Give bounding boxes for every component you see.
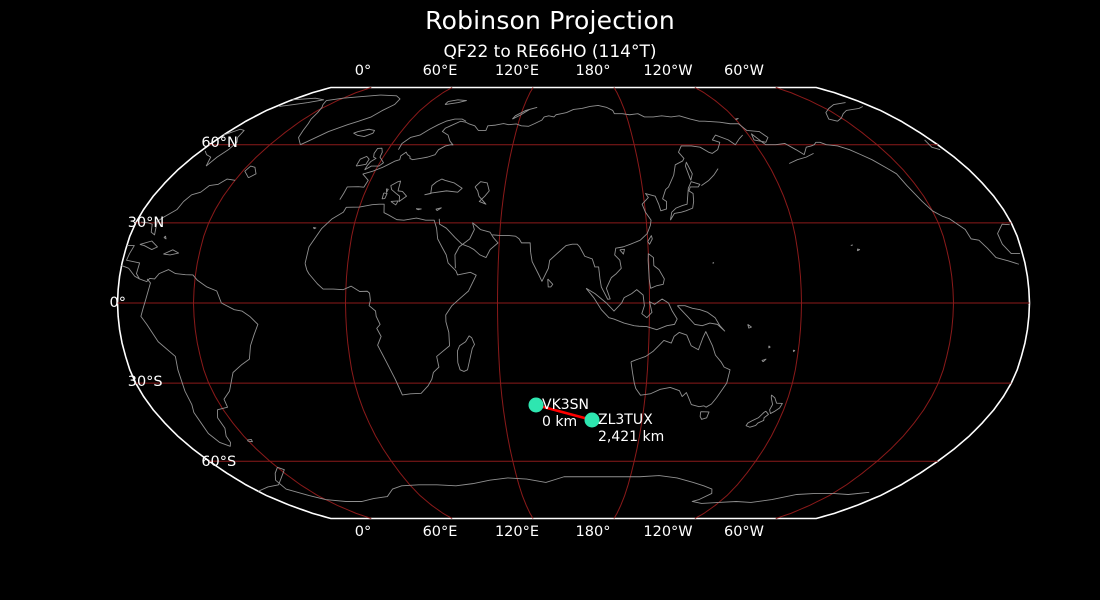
lon-tick-top-0: 0°: [355, 63, 371, 79]
station-label-zl3tux: ZL3TUX2,421 km: [598, 412, 664, 446]
station-callsign: ZL3TUX: [598, 412, 653, 428]
map-canvas: 0°60°E120°E180°120°W60°W 0°60°E120°E180°…: [0, 0, 1100, 600]
lon-tick-bottom-3: 180°: [576, 524, 611, 540]
station-distance: 0 km: [542, 414, 589, 431]
lon-tick-bottom-5: 60°W: [724, 524, 764, 540]
station-label-vk3sn: VK3SN0 km: [542, 397, 589, 431]
station-distance: 2,421 km: [598, 429, 664, 446]
graticule: [118, 88, 1030, 519]
lon-tick-top-4: 120°W: [643, 63, 692, 79]
lon-tick-top-3: 180°: [576, 63, 611, 79]
lon-tick-bottom-2: 120°E: [495, 524, 539, 540]
lon-tick-top-5: 60°W: [724, 63, 764, 79]
map-figure: Robinson Projection QF22 to RE66HO (114°…: [0, 0, 1100, 600]
lon-tick-top-1: 60°E: [423, 63, 458, 79]
lon-tick-bottom-4: 120°W: [643, 524, 692, 540]
map-graphics: [0, 0, 1100, 600]
lon-tick-top-2: 120°E: [495, 63, 539, 79]
lon-tick-bottom-0: 0°: [355, 524, 371, 540]
station-callsign: VK3SN: [542, 397, 589, 413]
lon-tick-bottom-1: 60°E: [423, 524, 458, 540]
